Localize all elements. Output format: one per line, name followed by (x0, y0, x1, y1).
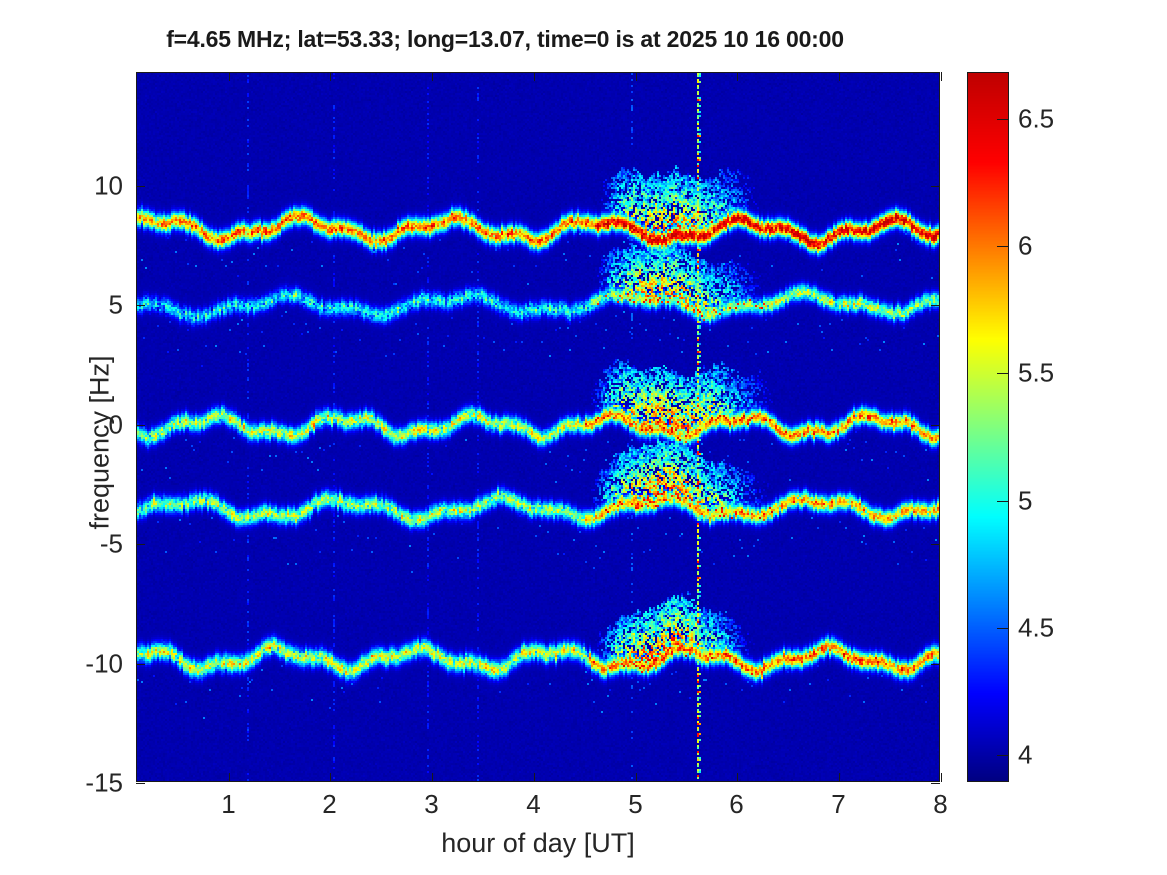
colorbar-tickmark (997, 755, 1008, 756)
spectrogram-image[interactable] (137, 73, 940, 782)
x-tickmark (941, 72, 942, 81)
x-tick-label: 7 (831, 789, 845, 820)
y-tickmark (136, 783, 145, 784)
y-tickmark (136, 544, 145, 545)
colorbar-tickmark (997, 628, 1008, 629)
colorbar-tickmark (997, 501, 1008, 502)
colorbar-tick-label: 4.5 (1018, 612, 1054, 643)
y-tickmark (136, 186, 145, 187)
x-tickmark (330, 72, 331, 81)
colorbar-tick-label: 6 (1018, 230, 1032, 261)
x-tickmark (839, 773, 840, 782)
colorbar-tickmark (997, 246, 1008, 247)
x-tickmark (330, 773, 331, 782)
y-tickmark (931, 425, 940, 426)
x-tick-label: 3 (424, 789, 438, 820)
x-tickmark (941, 773, 942, 782)
x-axis-label: hour of day [UT] (136, 828, 940, 859)
x-tickmark (534, 72, 535, 81)
x-tickmark (229, 773, 230, 782)
colorbar-gradient (968, 73, 1009, 782)
x-tickmark (839, 72, 840, 81)
x-tick-label: 2 (322, 789, 336, 820)
y-tickmark (136, 305, 145, 306)
x-tick-label: 4 (526, 789, 540, 820)
x-tickmark (432, 72, 433, 81)
y-tickmark (931, 305, 940, 306)
y-tickmark (136, 425, 145, 426)
x-tick-label: 6 (729, 789, 743, 820)
colorbar-tick-label: 4 (1018, 739, 1032, 770)
plot-axes[interactable] (136, 72, 940, 782)
colorbar-tick-label: 5.5 (1018, 357, 1054, 388)
y-tickmark (931, 664, 940, 665)
x-tickmark (229, 72, 230, 81)
y-axis-label: frequency [Hz] (85, 88, 116, 798)
colorbar[interactable] (967, 72, 1009, 782)
y-tickmark (136, 664, 145, 665)
page-title: f=4.65 MHz; lat=53.33; long=13.07, time=… (0, 26, 1010, 53)
x-tickmark (636, 773, 637, 782)
y-tickmark (931, 783, 940, 784)
x-tickmark (432, 773, 433, 782)
figure-canvas: f=4.65 MHz; lat=53.33; long=13.07, time=… (0, 0, 1167, 875)
x-tickmark (534, 773, 535, 782)
y-tickmark (931, 186, 940, 187)
x-tick-label: 5 (628, 789, 642, 820)
x-tickmark (737, 773, 738, 782)
x-tickmark (737, 72, 738, 81)
x-tickmark (636, 72, 637, 81)
y-tickmark (931, 544, 940, 545)
x-tick-label: 8 (933, 789, 947, 820)
colorbar-tick-label: 5 (1018, 485, 1032, 516)
colorbar-tick-label: 6.5 (1018, 103, 1054, 134)
colorbar-tickmark (997, 373, 1008, 374)
colorbar-tickmark (997, 119, 1008, 120)
x-tick-label: 1 (221, 789, 235, 820)
